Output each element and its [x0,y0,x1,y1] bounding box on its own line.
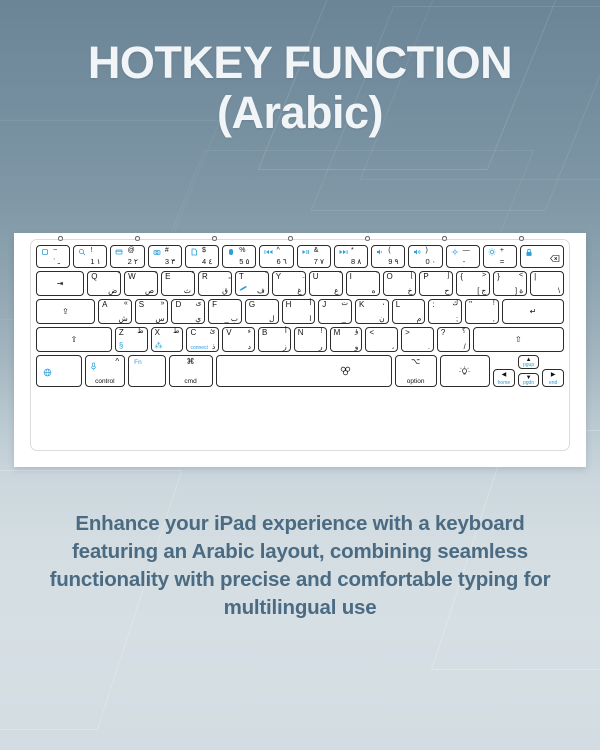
camera-icon [153,248,161,258]
u-key[interactable]: Uُع [309,271,343,296]
a-key[interactable]: A«ش [98,299,132,324]
key-glyph: ◀ [494,371,514,378]
h-key[interactable]: Hأا [282,299,316,324]
keyboard-screw [365,236,370,241]
semicolon-key[interactable]: :ك; [428,299,462,324]
key-label: option [396,378,436,385]
key-latin: E [165,272,170,281]
period-key[interactable]: >. [401,327,434,352]
tab-key[interactable]: ⇥ [36,271,84,296]
key-symbol: — [463,247,470,255]
arrow-right-slot: ▶end [542,355,564,387]
key-arabic: ش [119,315,128,323]
key-arabic: ز [283,343,287,351]
key-latin: U [313,272,319,281]
key-digit: - [463,258,468,266]
search-key[interactable]: !1 ١ [73,245,107,268]
globe-key[interactable] [36,355,82,387]
quote-key[interactable]: "!, [465,299,499,324]
key-digit: 6 ٦ [277,258,287,266]
key-blue-symbol: ⁂ [155,342,163,351]
volume-up-icon [413,248,423,258]
key-arabic: ق [222,287,228,295]
k-key[interactable]: K،ن [355,299,389,324]
j-key[interactable]: Jت_ [318,299,352,324]
key-mark: ئ [210,328,215,336]
s-key[interactable]: S»س [135,299,169,324]
key-label: pgdn [519,380,539,386]
key-glyph: ▶ [543,371,563,378]
key-latin: S [139,300,144,309]
key-symbol: ~ [53,247,57,255]
brightness-down-icon [451,248,459,258]
key-latin: R [202,272,208,281]
bracket-left-key[interactable]: {>[ ج [456,271,490,296]
key-arabic: خ [408,287,413,295]
key-arabic: [ ج [477,287,486,295]
key-latin: < [369,328,374,337]
window-icon [115,248,123,258]
key-latin: M [334,328,341,337]
key-arabic: ، [392,343,394,351]
key-arabic: ص [145,287,154,295]
key-arabic: ه [372,287,376,295]
key-digit: 5 ٥ [239,258,249,266]
key-symbol: $ [202,247,206,255]
key-arabic: \ [558,287,560,295]
key-mark: ظ [137,328,143,336]
slash-key[interactable]: ?؟/ [437,327,470,352]
key-latin: B [262,328,267,337]
key-latin: | [534,272,536,281]
key-label: Fn [129,359,164,366]
key-label: control [86,378,125,385]
key-symbol: & [314,247,319,255]
backlight-key[interactable] [440,355,490,387]
clover-icon [339,363,352,381]
rounded-square-icon [41,248,49,258]
key-symbol: @ [128,247,135,255]
key-digit: ` ـ [53,258,60,266]
n-key[interactable]: N!ر [294,327,327,352]
key-mark: ! [321,328,323,336]
key-label: end [543,380,563,386]
arrow-updown-slot: ▲pgup▼pgdn [518,355,540,387]
keyboard-row-modifiers: ^controlFn⌘cmd⌥option◀home▲pgup▼pgdn▶end [36,355,564,387]
app-switcher-key[interactable]: @2 ٢ [110,245,144,268]
screenshot-key[interactable]: #3 ٣ [148,245,182,268]
key-latin: G [249,300,255,309]
control-key[interactable]: ^control [85,355,126,387]
key-latin: P [423,272,428,281]
key-mark: ء [248,328,251,336]
arrow-down-key[interactable]: ▼pgdn [518,373,540,387]
key-digit: 0 ٠ [425,258,435,266]
key-arabic: ل [269,315,274,323]
p-key[interactable]: P]ح [419,271,453,296]
key-latin: X [155,328,160,337]
left-shift-key[interactable]: ⇧ [36,327,112,352]
key-mark: ! [493,300,495,308]
caps-lock-key[interactable]: ⇪ [36,299,95,324]
key-symbol: + [500,247,504,255]
key-arabic: _ ب [225,315,238,323]
keyboard-screw [442,236,447,241]
key-arabic: م [417,315,422,323]
key-glyph: ↵ [503,300,563,323]
key-arabic: ر [319,343,323,351]
volume-up-key[interactable]: )0 ٠ [408,245,442,268]
key-arabic: ا [309,315,311,323]
key-glyph: ⇧ [474,328,563,351]
brightness-down-key[interactable]: —- [446,245,480,268]
r-key[interactable]: Rٍق [198,271,232,296]
return-key[interactable]: ↵ [502,299,564,324]
key-mark: أ [285,328,287,336]
key-mark: ، [382,300,384,308]
volume-down-key[interactable]: (9 ٩ [371,245,405,268]
t-key[interactable]: Tّف [235,271,269,296]
key-mark: ت [341,300,348,308]
e-key[interactable]: Eٌث [161,271,195,296]
option-key[interactable]: ⌥option [395,355,437,387]
key-arabic: ض [108,287,117,295]
key-latin: } [497,272,500,281]
d-key[interactable]: Dىي [171,299,205,324]
key-latin: Q [91,272,97,281]
m-key[interactable]: Mؤو [330,327,363,352]
file-icon [190,248,198,258]
globe-icon [43,364,52,382]
i-key[interactable]: Iَه [346,271,380,296]
play-pause-icon [302,248,311,258]
key-mark: ؤ [355,328,358,336]
keyboard-screw [519,236,524,241]
next-track-key[interactable]: *8 ٨ [334,245,368,268]
key-mark: أ [309,300,311,308]
key-arabic: س [155,315,164,323]
pen-icon [239,285,248,295]
key-symbol: # [165,247,169,255]
lock-icon [525,248,533,259]
key-latin: I [350,272,352,281]
z-key[interactable]: Zظ§ [115,327,148,352]
w-key[interactable]: Wًص [124,271,158,296]
description-text: Enhance your iPad experience with a keyb… [40,510,560,622]
lock-delete-key[interactable] [520,245,564,268]
key-arabic: ي [195,315,201,323]
keyboard-body[interactable]: ~` ـ!1 ١@2 ٢#3 ٣$4 ٤%5 ٥^6 ٦&7 ٧*8 ٨(9 ٩… [30,239,570,451]
key-latin: O [387,272,393,281]
volume-down-icon [376,248,385,258]
key-digit: 3 ٣ [165,258,175,266]
key-mark: [ [410,272,412,280]
page-title: HOTKEY FUNCTION (Arabic) [0,40,600,136]
key-mark: » [161,300,165,308]
key-arabic: ح [444,287,449,295]
key-arabic: ] ة [515,287,523,295]
fn-key[interactable]: Fn [128,355,165,387]
key-digit: 2 ٢ [128,258,138,266]
key-latin: J [322,300,326,309]
key-latin: C [190,328,196,337]
key-latin: : [432,300,434,309]
keyboard-row-function: ~` ـ!1 ١@2 ٢#3 ٣$4 ٤%5 ٥^6 ٦&7 ٧*8 ٨(9 ٩… [36,245,564,268]
file-key[interactable]: $4 ٤ [185,245,219,268]
key-latin: " [469,300,472,309]
key-arabic: , [493,315,495,323]
x-key[interactable]: Xط⁂ [151,327,184,352]
connect-label: connect [190,346,208,352]
arrow-key-cluster: ◀home▲pgup▼pgdn▶end [493,355,564,387]
keyboard-screw [212,236,217,241]
key-arabic: غ [297,287,301,295]
arrow-up-key[interactable]: ▲pgup [518,355,540,369]
space-key[interactable] [216,355,392,387]
arrow-right-key[interactable]: ▶end [542,369,564,387]
key-digit: 8 ٨ [351,258,361,266]
mouse-key[interactable]: %5 ٥ [222,245,256,268]
key-arabic: / [464,343,466,351]
key-mark: « [124,300,128,308]
key-glyph: ⌥ [396,357,436,366]
keyboard-row-home: ⇪A«شS»سDىيF_ بGلHأاJت_ K،نLم:ك;"!,↵ [36,299,564,324]
key-digit: 4 ٤ [202,258,212,266]
key-glyph: ⌘ [170,357,212,366]
key-label: home [494,380,514,386]
g-key[interactable]: Gل [245,299,279,324]
key-arabic: و [355,343,359,351]
key-digit: 9 ٩ [388,258,398,266]
key-latin: A [102,300,107,309]
key-mark: > [482,272,486,280]
delete-icon [550,249,560,267]
key-label: pgup [519,362,539,368]
key-glyph: ⇥ [37,272,83,295]
key-mark: ك [452,300,458,308]
mouse-icon [227,248,235,258]
key-symbol: ! [90,247,92,255]
keyboard-screw [58,236,63,241]
key-latin: Z [119,328,124,337]
key-mark: ى [196,300,201,308]
key-latin: T [239,272,244,281]
key-latin: > [405,328,410,337]
key-latin: L [396,300,400,309]
key-latin: ? [441,328,445,337]
key-latin: D [175,300,181,309]
key-mark: ] [447,272,449,280]
b-key[interactable]: Bأز [258,327,291,352]
prev-track-icon [264,248,273,258]
key-glyph: ^ [86,357,125,366]
key-symbol: ^ [277,247,280,255]
key-arabic: ; [456,315,458,323]
key-arabic: ن [379,315,385,323]
key-mark: ط [173,328,179,336]
key-symbol: ) [425,247,427,255]
comma-key[interactable]: <، [365,327,398,352]
key-latin: H [286,300,292,309]
key-glyph: ⇪ [37,300,94,323]
command-left-key[interactable]: ⌘cmd [169,355,213,387]
globe-home-key[interactable]: ~` ـ [36,245,70,268]
arrow-left-key[interactable]: ◀home [493,369,515,387]
next-track-icon [339,248,348,258]
page-root: HOTKEY FUNCTION (Arabic) ~` ـ!1 ١@2 ٢#3 … [0,0,600,750]
key-symbol: ( [388,247,390,255]
key-label: cmd [170,378,212,385]
q-key[interactable]: Qْض [87,271,121,296]
key-digit: 7 ٧ [314,258,324,266]
lightbulb-icon [441,356,489,386]
keyboard-panel: ~` ـ!1 ١@2 ٢#3 ٣$4 ٤%5 ٥^6 ٦&7 ٧*8 ٨(9 ٩… [14,233,586,467]
f-key[interactable]: F_ ب [208,299,242,324]
title-line-primary: HOTKEY FUNCTION [0,40,600,86]
brightness-up-key[interactable]: += [483,245,517,268]
o-key[interactable]: O[خ [383,271,417,296]
search-icon [78,248,86,258]
keyboard-row-top: ⇥QْضWًصEٌثRٍقTّفYِغUُعIَهO[خP]ح{>[ ج}<] … [36,271,564,296]
key-arabic: _ [342,315,348,323]
key-latin: W [128,272,136,281]
key-digit: 1 ١ [90,258,100,266]
key-digit: = [500,258,506,266]
y-key[interactable]: Yِغ [272,271,306,296]
key-latin: K [359,300,364,309]
v-key[interactable]: Vءد [222,327,255,352]
keyboard-row-bottom-letters: ⇧Zظ§Xط⁂CئذconnectVءدBأزN!رMؤو<،>.?؟/⇧ [36,327,564,352]
bracket-right-key[interactable]: }<] ة [493,271,527,296]
backslash-key[interactable]: |\ [530,271,564,296]
key-latin: Y [276,272,281,281]
key-latin: { [460,272,463,281]
key-symbol: * [351,247,354,255]
brightness-up-icon [488,248,496,258]
key-arabic: ف [257,287,265,295]
l-key[interactable]: Lم [392,299,426,324]
key-arabic: ث [184,287,191,295]
key-glyph: ⇧ [37,328,111,351]
arrow-left-slot: ◀home [493,355,515,387]
title-line-secondary: (Arabic) [0,90,600,136]
key-latin: N [298,328,304,337]
key-latin: F [212,300,217,309]
key-mark: < [519,272,523,280]
key-symbol: % [239,247,245,255]
key-arabic: د [248,343,251,351]
key-mark: ؟ [462,328,466,336]
keyboard-screw [288,236,293,241]
key-arabic: ع [334,287,338,295]
key-arabic: . [428,343,430,351]
key-blue-symbol: § [119,342,123,351]
play-pause-key[interactable]: &7 ٧ [297,245,331,268]
right-shift-key[interactable]: ⇧ [473,327,564,352]
previous-track-key[interactable]: ^6 ٦ [259,245,293,268]
keyboard-screw [135,236,140,241]
key-arabic: ذ [212,343,215,351]
key-latin: V [226,328,231,337]
c-key[interactable]: Cئذconnect [186,327,219,352]
